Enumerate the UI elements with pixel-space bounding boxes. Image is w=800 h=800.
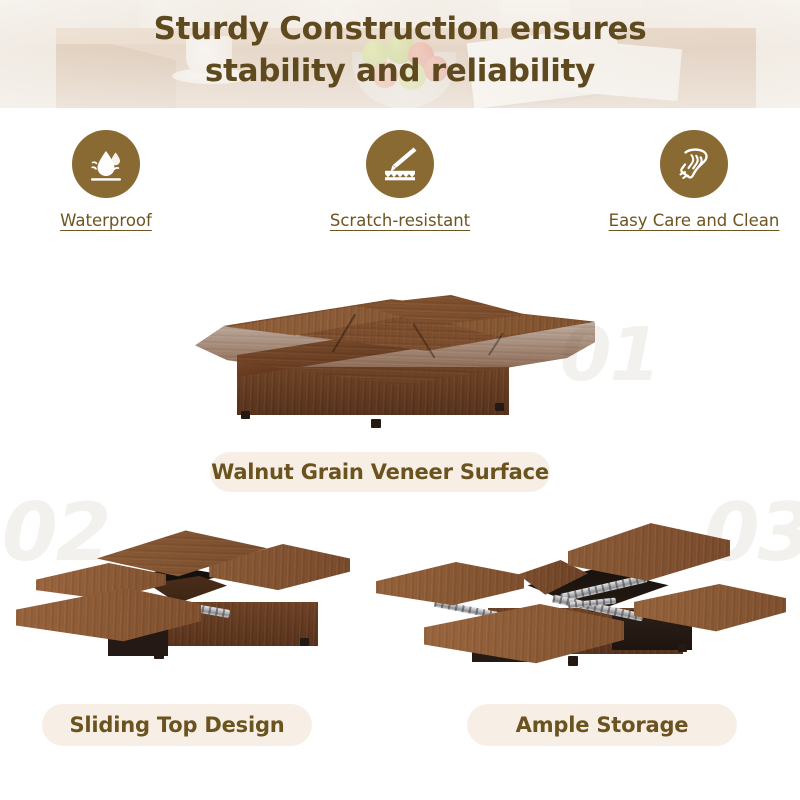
table-foot [300,638,309,646]
table-foot [678,644,687,652]
header-title-line-2: stability and reliability [0,50,800,92]
feature-icon-circle [366,130,434,198]
water-drop-icon [84,142,128,186]
feature-icon-row: Waterproof Scratch-resistant Ea [0,130,800,230]
feature-icon-circle [660,130,728,198]
caption-pill-03: Ample Storage [467,704,737,746]
header-title: Sturdy Construction ensures stability an… [0,8,800,92]
table-panel-slid-front [424,604,624,682]
feature-waterproof: Waterproof [16,130,196,230]
knife-scratch-icon [377,141,423,187]
feature-label: Waterproof [60,211,152,230]
table-foot [568,656,578,666]
header-title-line-1: Sturdy Construction ensures [154,11,647,47]
hand-cloth-wipe-icon [671,141,717,187]
feature-scratch-resistant: Scratch-resistant [310,130,490,230]
caption-text: Sliding Top Design [69,713,284,737]
table-foot [241,411,250,419]
product-image-ample-storage [372,522,792,684]
feature-label: Scratch-resistant [330,211,470,230]
product-image-closed-table [195,295,595,440]
feature-easy-care-and-clean: Easy Care and Clean [604,130,784,230]
feature-label: Easy Care and Clean [609,211,780,230]
caption-pill-02: Sliding Top Design [42,704,312,746]
table-foot [371,419,381,428]
product-image-sliding-top [8,530,358,680]
table-foot [154,650,164,659]
feature-icon-circle [72,130,140,198]
caption-text: Ample Storage [516,713,689,737]
caption-text: Walnut Grain Veneer Surface [211,460,549,484]
caption-pill-01: Walnut Grain Veneer Surface [210,452,550,492]
table-foot [495,403,504,411]
